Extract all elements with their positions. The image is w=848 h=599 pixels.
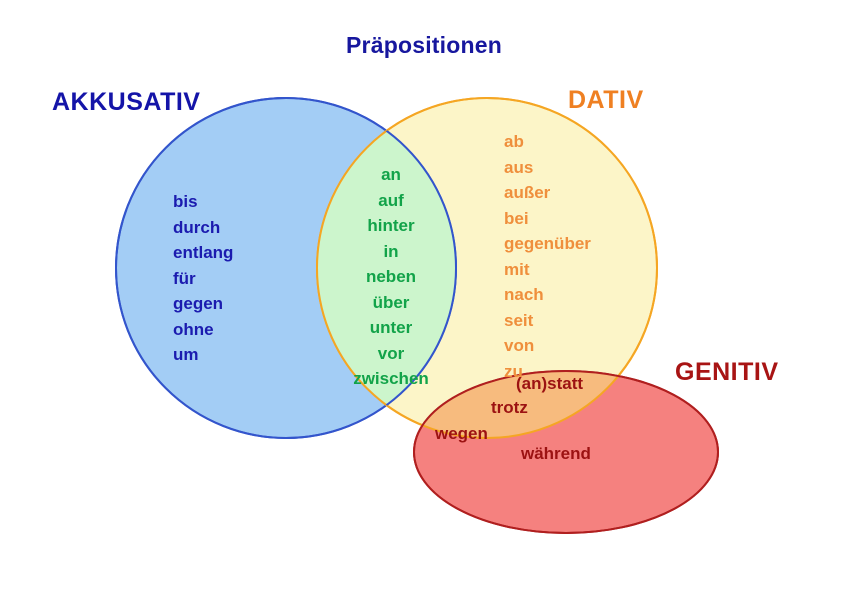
word-item: neben [333, 264, 449, 290]
word-item: nach [504, 282, 591, 308]
dativ-set-label: DATIV [568, 86, 644, 115]
wechselpraepositionen-word-list: an auf hinter in neben über unter vor zw… [333, 162, 449, 392]
word-item: seit [504, 308, 591, 334]
word-item: auf [333, 188, 449, 214]
word-item: ab [504, 129, 591, 155]
word-item: aus [504, 155, 591, 181]
word-item: entlang [173, 240, 233, 266]
word-item: gegen [173, 291, 233, 317]
word-item: bis [173, 189, 233, 215]
word-item: durch [173, 215, 233, 241]
word-item: mit [504, 257, 591, 283]
word-item: ohne [173, 317, 233, 343]
word-item: während [521, 444, 591, 464]
word-item: unter [333, 315, 449, 341]
akkusativ-word-list: bis durch entlang für gegen ohne um [173, 189, 233, 368]
word-item: bei [504, 206, 591, 232]
word-item: in [333, 239, 449, 265]
word-item: hinter [333, 213, 449, 239]
word-item: zwischen [333, 366, 449, 392]
word-item: wegen [435, 424, 488, 444]
word-item: (an)statt [516, 374, 583, 394]
genitiv-set-label: GENITIV [675, 358, 779, 387]
word-item: über [333, 290, 449, 316]
word-item: für [173, 266, 233, 292]
venn-diagram-canvas: Präpositionen [0, 0, 848, 599]
word-item: gegenüber [504, 231, 591, 257]
word-item: an [333, 162, 449, 188]
word-item: vor [333, 341, 449, 367]
word-item: von [504, 333, 591, 359]
word-item: um [173, 342, 233, 368]
word-item: trotz [491, 398, 528, 418]
word-item: außer [504, 180, 591, 206]
akkusativ-set-label: AKKUSATIV [52, 88, 200, 117]
dativ-word-list: ab aus außer bei gegenüber mit nach seit… [504, 129, 591, 384]
